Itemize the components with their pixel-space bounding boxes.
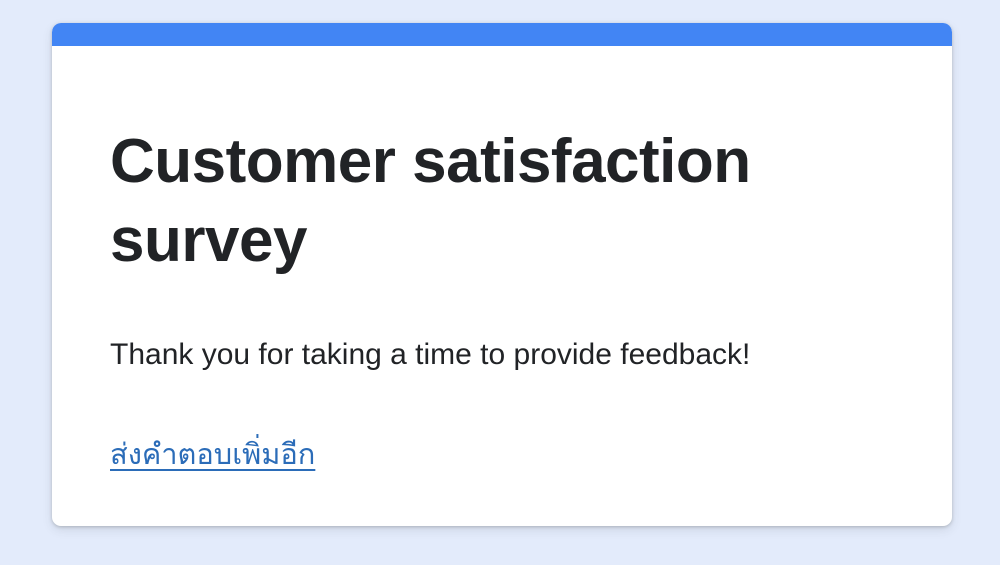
form-card-body: Customer satisfaction survey Thank you f…	[52, 46, 952, 526]
submit-another-response-link[interactable]: ส่งคำตอบเพิ่มอีก	[110, 434, 315, 478]
form-actions: ส่งคำตอบเพิ่มอีก	[110, 376, 894, 478]
form-card: Customer satisfaction survey Thank you f…	[52, 23, 952, 526]
form-accent-bar	[52, 23, 952, 46]
confirmation-message: Thank you for taking a time to provide f…	[110, 281, 894, 377]
page-title: Customer satisfaction survey	[110, 46, 870, 281]
form-confirmation-page: Customer satisfaction survey Thank you f…	[0, 0, 1000, 565]
